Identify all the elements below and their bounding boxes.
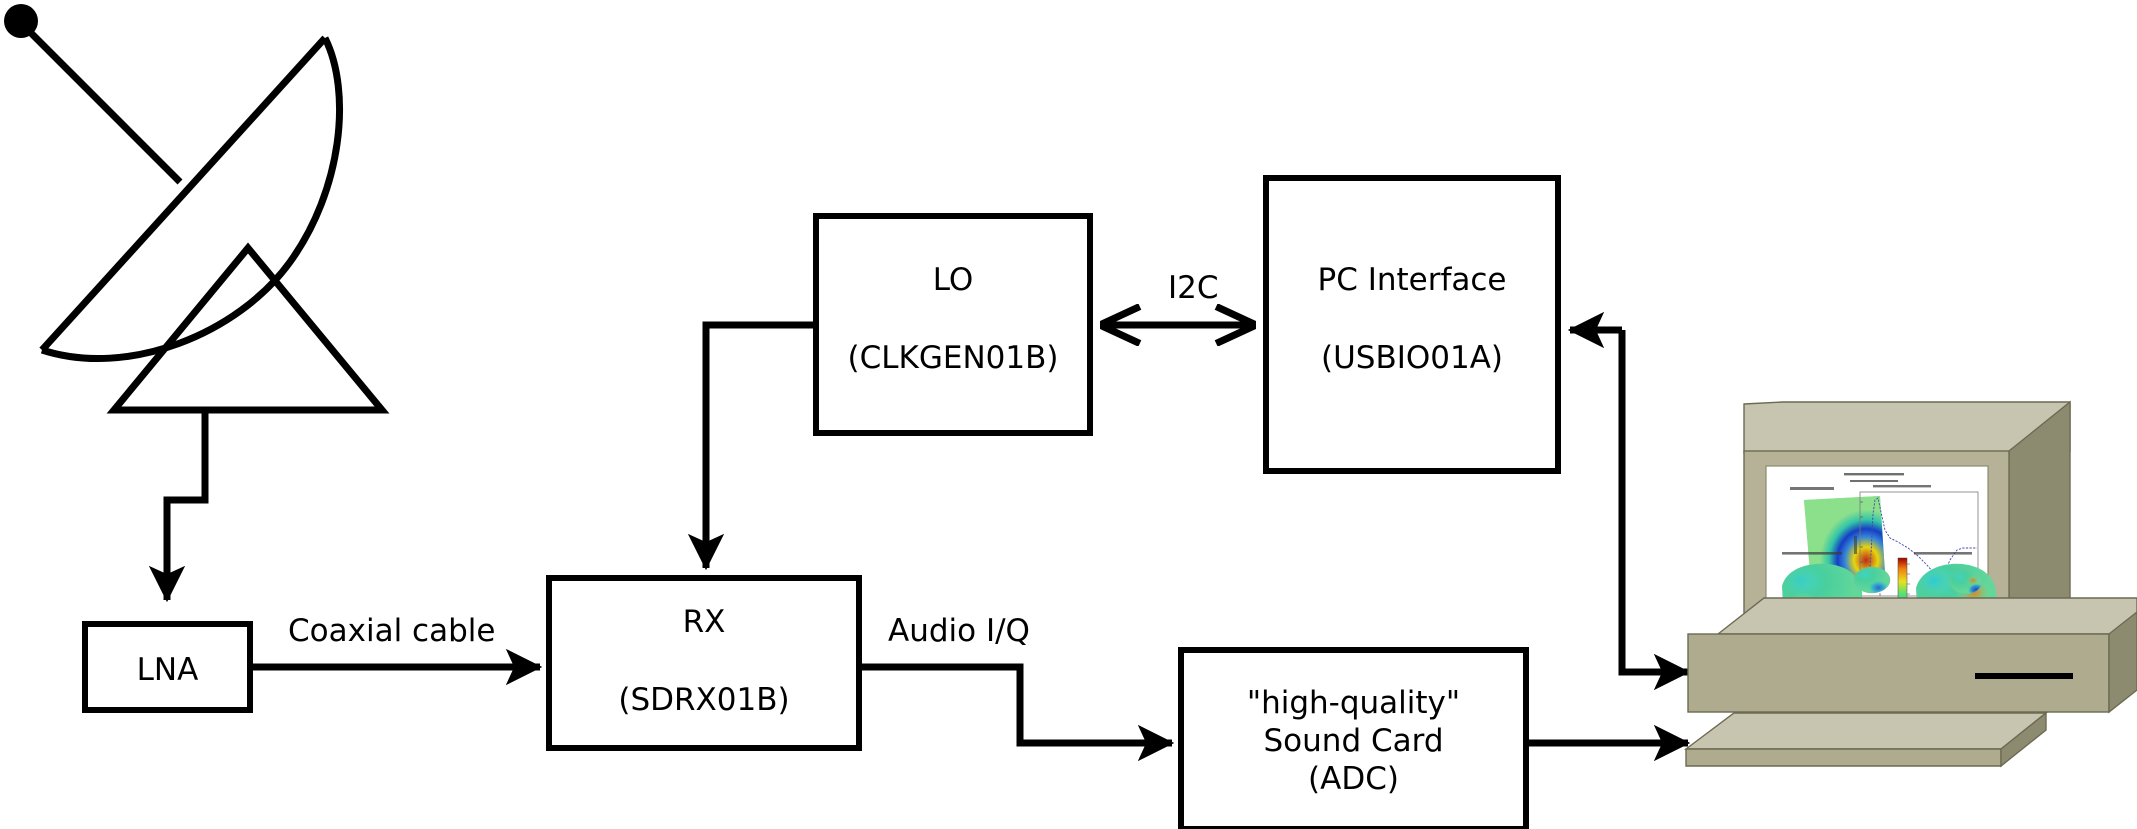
satellite-dish bbox=[4, 4, 382, 410]
diagram-vector-layer bbox=[0, 0, 2137, 829]
keyboard-front-edge bbox=[1686, 749, 2001, 766]
audio-iq-connector bbox=[859, 667, 1172, 743]
keyboard-top-face[interactable] bbox=[1686, 713, 2046, 749]
lna-block-outline[interactable] bbox=[85, 624, 250, 710]
desktop-computer[interactable] bbox=[1686, 402, 2137, 766]
dish-pedestal bbox=[114, 248, 382, 410]
usb-connector bbox=[1570, 330, 1688, 672]
pc-interface-block-outline[interactable] bbox=[1266, 178, 1558, 471]
sound-card-block-outline[interactable] bbox=[1181, 650, 1526, 829]
diagram-canvas: LNA RX (SDRX01B) LO (CLKGEN01B) PC Inter… bbox=[0, 0, 2137, 829]
case-top-face bbox=[1718, 598, 2137, 634]
lo-to-rx-connector bbox=[706, 325, 816, 568]
lo-block-outline[interactable] bbox=[816, 216, 1090, 433]
dish-feed-strut bbox=[26, 28, 180, 182]
antenna-to-lna-connector bbox=[167, 410, 205, 600]
rx-block-outline[interactable] bbox=[549, 578, 859, 748]
drive-slot-icon bbox=[1975, 673, 2073, 679]
